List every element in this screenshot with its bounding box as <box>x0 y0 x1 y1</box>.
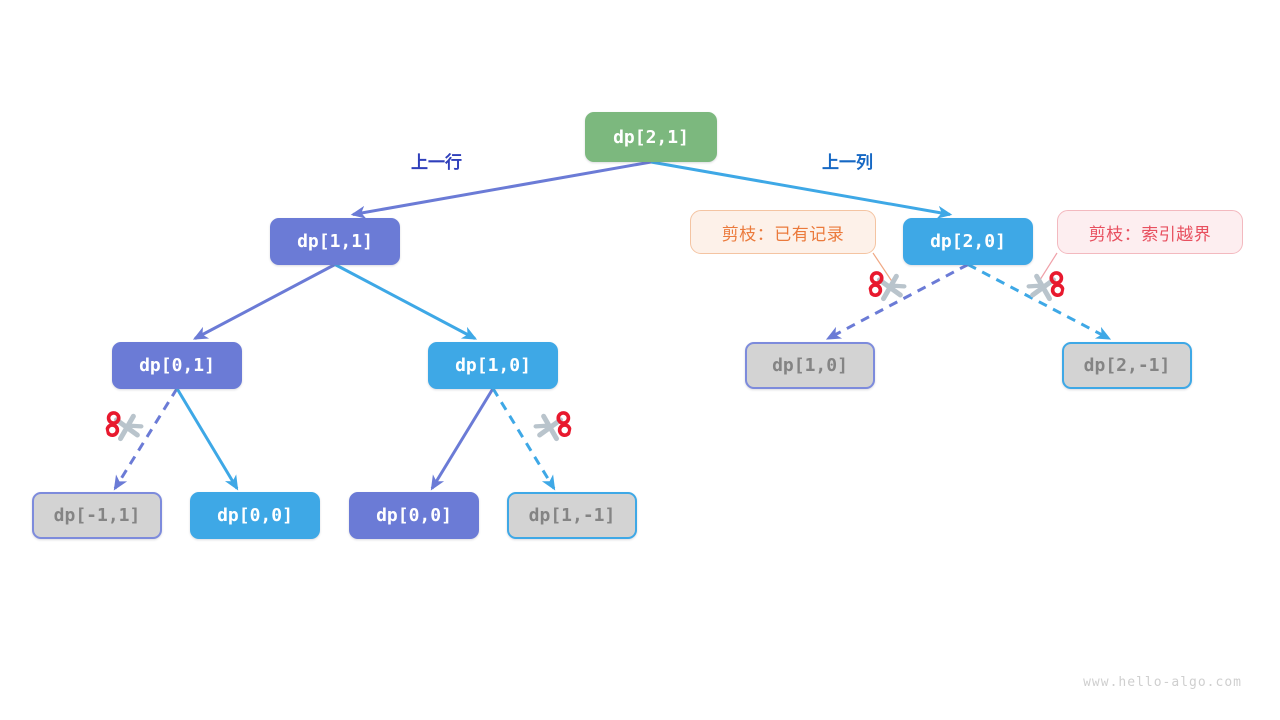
tree-node-label: dp[0,1] <box>139 355 215 376</box>
tree-node-l1-right: dp[2,0] <box>903 218 1033 265</box>
site-watermark: www.hello-algo.com <box>1083 675 1242 690</box>
tree-node-label: dp[2,0] <box>930 231 1006 252</box>
branch-label-prev-row: 上一行 <box>411 148 462 173</box>
tree-edges <box>115 162 1109 489</box>
tree-edge-l2b-to-l3c <box>432 389 493 489</box>
tree-node-l3-a: dp[-1,1] <box>32 492 162 539</box>
tree-edge-l2a-to-l3b <box>177 389 237 489</box>
tree-node-l1-left: dp[1,1] <box>270 218 400 265</box>
scissors-icon-scissors-l3d-edge <box>521 401 576 456</box>
tree-node-l3-c: dp[0,0] <box>349 492 479 539</box>
tree-node-root: dp[2,1] <box>585 112 717 162</box>
tree-node-label: dp[0,0] <box>217 505 293 526</box>
callout-pruned-out-of-bounds: 剪枝：索引越界 <box>1057 210 1243 254</box>
tree-edge-l1left-to-l2b <box>335 265 475 339</box>
tree-edge-root-to-l1-left <box>353 162 651 215</box>
tree-node-l2-c: dp[1,0] <box>745 342 875 389</box>
tree-edge-l1left-to-l2a <box>195 265 335 339</box>
branch-label-prev-col: 上一列 <box>822 148 873 173</box>
tree-node-l2-a: dp[0,1] <box>112 342 242 389</box>
scissors-icon-scissors-l3a-edge <box>102 401 157 456</box>
diagram-canvas: dp[2,1]dp[1,1]dp[2,0]dp[0,1]dp[1,0]dp[1,… <box>0 0 1280 720</box>
tree-node-label: dp[1,-1] <box>529 505 616 526</box>
tree-edge-root-to-l1-right <box>651 162 950 215</box>
tree-node-l3-d: dp[1,-1] <box>507 492 637 539</box>
tree-node-label: dp[2,1] <box>613 127 689 148</box>
tree-node-label: dp[1,1] <box>297 231 373 252</box>
tree-node-label: dp[1,0] <box>772 355 848 376</box>
scissors-icon-scissors-l2c-edge <box>865 261 920 316</box>
tree-node-l2-b: dp[1,0] <box>428 342 558 389</box>
callout-pruned-memoized: 剪枝：已有记录 <box>690 210 876 254</box>
tree-node-label: dp[0,0] <box>376 505 452 526</box>
tree-node-label: dp[-1,1] <box>54 505 141 526</box>
tree-node-label: dp[1,0] <box>455 355 531 376</box>
tree-node-l2-d: dp[2,-1] <box>1062 342 1192 389</box>
tree-node-l3-b: dp[0,0] <box>190 492 320 539</box>
tree-node-label: dp[2,-1] <box>1084 355 1171 376</box>
scissors-icon-scissors-l2d-edge <box>1014 261 1069 316</box>
